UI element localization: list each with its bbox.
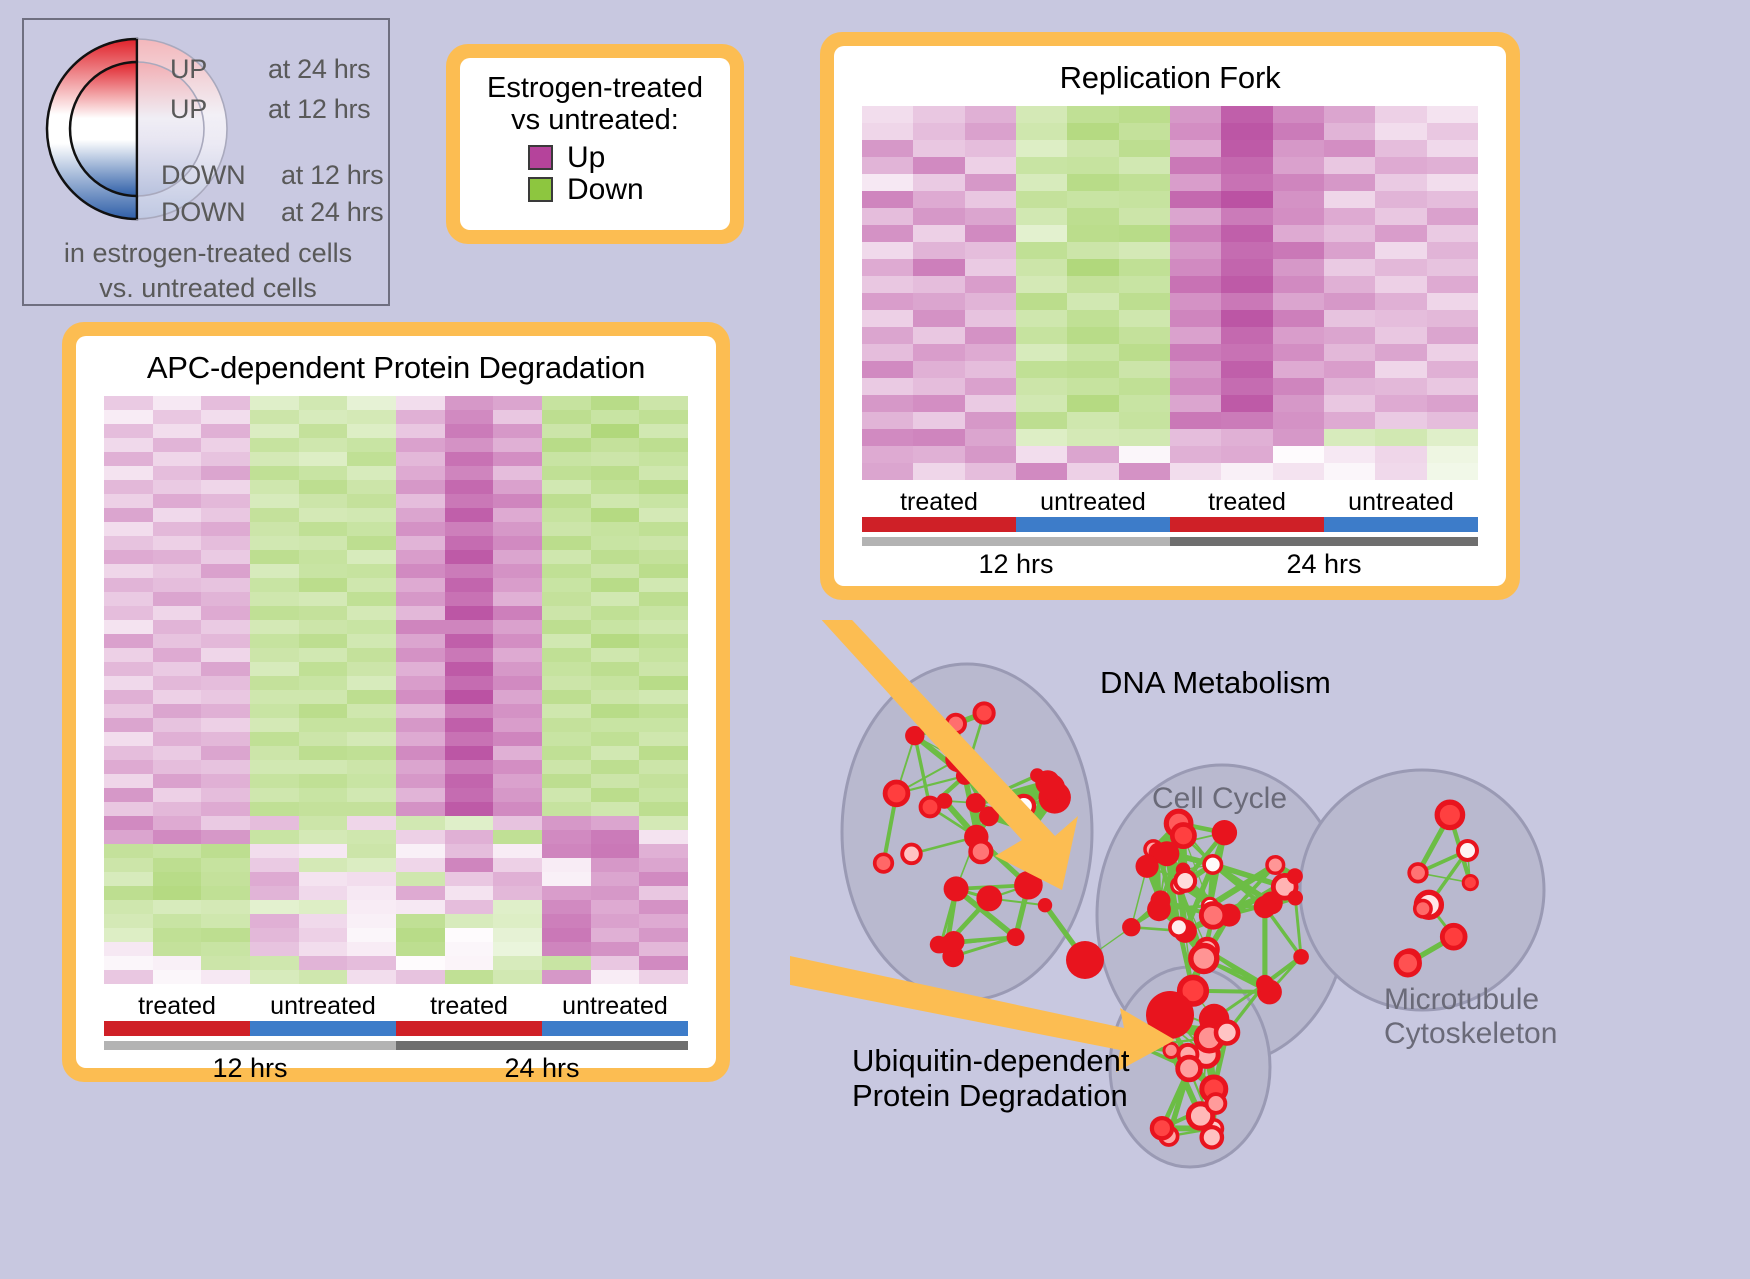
network-node bbox=[1147, 897, 1171, 921]
heatmap-cell bbox=[445, 732, 494, 746]
heatmap-cell bbox=[639, 578, 688, 592]
heatmap-cell bbox=[639, 872, 688, 886]
heatmap-cell bbox=[250, 746, 299, 760]
heatmap-cell bbox=[445, 466, 494, 480]
heatmap-cell bbox=[104, 830, 153, 844]
heatmap-cell bbox=[201, 564, 250, 578]
heatmap-cell bbox=[1067, 310, 1118, 327]
network-node bbox=[1256, 975, 1274, 993]
network-node bbox=[1458, 841, 1477, 860]
heatmap-cell bbox=[1324, 344, 1375, 361]
heatmap-cell bbox=[396, 844, 445, 858]
heatmap-cell bbox=[445, 606, 494, 620]
heatmap-cell bbox=[1273, 463, 1324, 480]
heatmap-cell bbox=[250, 606, 299, 620]
heatmap-cell bbox=[1273, 378, 1324, 395]
heatmap-cell bbox=[542, 508, 591, 522]
heatmap-cell bbox=[1427, 157, 1478, 174]
heatmap-cell bbox=[1170, 157, 1221, 174]
heatmap-cell bbox=[1324, 463, 1375, 480]
heatmap-cell bbox=[1273, 344, 1324, 361]
network-node bbox=[1178, 1057, 1201, 1080]
cluster-label-cell-cycle: Cell Cycle bbox=[1152, 782, 1287, 816]
heatmap-cell bbox=[396, 816, 445, 830]
heatmap-cell bbox=[862, 429, 913, 446]
network-node bbox=[1415, 901, 1431, 917]
heatmap-cell bbox=[104, 900, 153, 914]
heatmap-cell bbox=[104, 494, 153, 508]
heatmap-cell bbox=[639, 788, 688, 802]
down-swatch-icon bbox=[528, 177, 553, 202]
heatmap-cell bbox=[1427, 463, 1478, 480]
heatmap-cell bbox=[104, 634, 153, 648]
heatmap-cell bbox=[153, 522, 202, 536]
heatmap-cell bbox=[299, 648, 348, 662]
heatmap-cell bbox=[591, 928, 640, 942]
heatmap-cell bbox=[862, 259, 913, 276]
heatmap-cell bbox=[299, 844, 348, 858]
heatmap-cell bbox=[445, 956, 494, 970]
heatmap-cell bbox=[1221, 463, 1272, 480]
heatmap-cell bbox=[396, 424, 445, 438]
heatmap-cell bbox=[250, 900, 299, 914]
heatmap-cell bbox=[1324, 361, 1375, 378]
heatmap-cell bbox=[104, 466, 153, 480]
apc-degradation-heatmap bbox=[104, 396, 688, 984]
heatmap-cell bbox=[1119, 446, 1170, 463]
heatmap-cell bbox=[1119, 344, 1170, 361]
heatmap-cell bbox=[1119, 140, 1170, 157]
network-node bbox=[1207, 1094, 1226, 1113]
heatmap-cell bbox=[250, 634, 299, 648]
heatmap-cell bbox=[1273, 225, 1324, 242]
heatmap-cell bbox=[591, 802, 640, 816]
heatmap-cell bbox=[250, 396, 299, 410]
heatmap-cell bbox=[1067, 140, 1118, 157]
key-row-up: Up bbox=[528, 143, 720, 173]
heatmap-cell bbox=[396, 592, 445, 606]
heatmap-cell bbox=[591, 410, 640, 424]
heatmap-cell bbox=[299, 438, 348, 452]
heatmap-cell bbox=[299, 956, 348, 970]
heatmap-cell bbox=[913, 140, 964, 157]
heatmap-cell bbox=[542, 718, 591, 732]
heatmap-cell bbox=[493, 606, 542, 620]
heatmap-cell bbox=[347, 424, 396, 438]
heatmap-cell bbox=[250, 970, 299, 984]
heatmap-cell bbox=[396, 564, 445, 578]
heatmap-cell bbox=[1375, 344, 1426, 361]
heatmap-cell bbox=[396, 480, 445, 494]
heatmap-cell bbox=[1221, 191, 1272, 208]
heatmap-cell bbox=[1119, 174, 1170, 191]
heatmap-cell bbox=[445, 522, 494, 536]
heatmap-cell bbox=[1170, 412, 1221, 429]
heatmap-cell bbox=[201, 704, 250, 718]
condition-label: untreated bbox=[1324, 488, 1478, 517]
heatmap-cell bbox=[347, 970, 396, 984]
network-node bbox=[1039, 774, 1065, 800]
heatmap-cell bbox=[965, 225, 1016, 242]
heatmap-cell bbox=[250, 536, 299, 550]
network-node bbox=[1038, 898, 1052, 912]
heatmap-cell bbox=[299, 928, 348, 942]
heatmap-cell bbox=[1016, 378, 1067, 395]
heatmap-cell bbox=[639, 662, 688, 676]
heatmap-cell bbox=[445, 592, 494, 606]
heatmap-cell bbox=[913, 310, 964, 327]
heatmap-cell bbox=[542, 494, 591, 508]
heatmap-cell bbox=[542, 522, 591, 536]
heatmap-cell bbox=[153, 396, 202, 410]
heatmap-cell bbox=[965, 361, 1016, 378]
heatmap-cell bbox=[1375, 293, 1426, 310]
heatmap-cell bbox=[153, 788, 202, 802]
heatmap-cell bbox=[1273, 429, 1324, 446]
heatmap-cell bbox=[104, 606, 153, 620]
heatmap-cell bbox=[913, 327, 964, 344]
heatmap-cell bbox=[1375, 174, 1426, 191]
heatmap-cell bbox=[299, 522, 348, 536]
heatmap-cell bbox=[153, 816, 202, 830]
heatmap-cell bbox=[965, 463, 1016, 480]
heatmap-cell bbox=[1067, 463, 1118, 480]
condition-label: treated bbox=[104, 992, 250, 1021]
heatmap-cell bbox=[347, 634, 396, 648]
heatmap-cell bbox=[591, 900, 640, 914]
heatmap-cell bbox=[396, 928, 445, 942]
heatmap-cell bbox=[542, 536, 591, 550]
key-title-line2: vs untreated: bbox=[470, 104, 720, 136]
network-node bbox=[1267, 857, 1284, 874]
heatmap-cell bbox=[1221, 242, 1272, 259]
heatmap-cell bbox=[250, 830, 299, 844]
heatmap-cell bbox=[201, 620, 250, 634]
heatmap-cell bbox=[591, 536, 640, 550]
heatmap-cell bbox=[862, 123, 913, 140]
heatmap-cell bbox=[153, 676, 202, 690]
heatmap-cell bbox=[104, 662, 153, 676]
heatmap-cell bbox=[1016, 395, 1067, 412]
heatmap-cell bbox=[1221, 225, 1272, 242]
heatmap-cell bbox=[862, 293, 913, 310]
heatmap-cell bbox=[1067, 157, 1118, 174]
heatmap-cell bbox=[639, 844, 688, 858]
heatmap-cell bbox=[1170, 242, 1221, 259]
heatmap-cell bbox=[347, 872, 396, 886]
heatmap-cell bbox=[250, 410, 299, 424]
heatmap-cell bbox=[1067, 378, 1118, 395]
heatmap-cell bbox=[1067, 429, 1118, 446]
key-label-down: Down bbox=[567, 175, 644, 205]
heatmap-cell bbox=[639, 676, 688, 690]
heatmap-cell bbox=[1375, 429, 1426, 446]
condition-label: untreated bbox=[542, 992, 688, 1021]
heatmap-cell bbox=[542, 578, 591, 592]
heatmap-cell bbox=[1170, 191, 1221, 208]
heatmap-cell bbox=[965, 208, 1016, 225]
heatmap-cell bbox=[1324, 446, 1375, 463]
heatmap-cell bbox=[299, 676, 348, 690]
heatmap-cell bbox=[542, 970, 591, 984]
heatmap-cell bbox=[347, 816, 396, 830]
heatmap-cell bbox=[1119, 378, 1170, 395]
heatmap-cell bbox=[913, 378, 964, 395]
heatmap-cell bbox=[299, 396, 348, 410]
heatmap-cell bbox=[201, 732, 250, 746]
heatmap-cell bbox=[862, 446, 913, 463]
heatmap-cell bbox=[862, 463, 913, 480]
heatmap-cell bbox=[542, 480, 591, 494]
heatmap-cell bbox=[445, 494, 494, 508]
heatmap-cell bbox=[153, 620, 202, 634]
heatmap-cell bbox=[1427, 123, 1478, 140]
heatmap-cell bbox=[1067, 208, 1118, 225]
heatmap-cell bbox=[1016, 412, 1067, 429]
heatmap-cell bbox=[1221, 344, 1272, 361]
wheel-time-3: at 24 hrs bbox=[281, 197, 383, 228]
heatmap-cell bbox=[347, 536, 396, 550]
heatmap-cell bbox=[1324, 429, 1375, 446]
heatmap-cell bbox=[1221, 157, 1272, 174]
heatmap-cell bbox=[639, 438, 688, 452]
heatmap-cell bbox=[493, 956, 542, 970]
heatmap-cell bbox=[445, 578, 494, 592]
heatmap-cell bbox=[1273, 191, 1324, 208]
key-title-line1: Estrogen-treated bbox=[470, 72, 720, 104]
heatmap-cell bbox=[591, 788, 640, 802]
heatmap-cell bbox=[445, 704, 494, 718]
key-row-down: Down bbox=[528, 175, 720, 205]
heatmap-cell bbox=[639, 858, 688, 872]
heatmap-cell bbox=[396, 956, 445, 970]
heatmap-cell bbox=[396, 662, 445, 676]
time-segment bbox=[1170, 537, 1478, 546]
heatmap-cell bbox=[862, 106, 913, 123]
heatmap-cell bbox=[104, 816, 153, 830]
heatmap-cell bbox=[1170, 174, 1221, 191]
heatmap-cell bbox=[445, 648, 494, 662]
condition-segment bbox=[542, 1021, 688, 1036]
heatmap-cell bbox=[201, 480, 250, 494]
heatmap-cell bbox=[445, 536, 494, 550]
heatmap-cell bbox=[347, 410, 396, 424]
heatmap-cell bbox=[1324, 174, 1375, 191]
heatmap-cell bbox=[493, 970, 542, 984]
condition-segment bbox=[396, 1021, 542, 1036]
heatmap-cell bbox=[104, 592, 153, 606]
heatmap-cell bbox=[201, 536, 250, 550]
heatmap-cell bbox=[104, 578, 153, 592]
heatmap-cell bbox=[913, 429, 964, 446]
heatmap-cell bbox=[639, 452, 688, 466]
heatmap-cell bbox=[1119, 429, 1170, 446]
heatmap-cell bbox=[1170, 429, 1221, 446]
heatmap-cell bbox=[591, 718, 640, 732]
heatmap-cell bbox=[493, 620, 542, 634]
network-node bbox=[1463, 876, 1477, 890]
network-node bbox=[1216, 1022, 1238, 1044]
heatmap-cell bbox=[299, 662, 348, 676]
heatmap-cell bbox=[250, 620, 299, 634]
network-node bbox=[1293, 949, 1309, 965]
cluster-label-microtubule: Microtubule Cytoskeleton bbox=[1384, 983, 1557, 1050]
heatmap-cell bbox=[493, 536, 542, 550]
heatmap-cell bbox=[1067, 412, 1118, 429]
heatmap-cell bbox=[913, 106, 964, 123]
heatmap-cell bbox=[104, 858, 153, 872]
heatmap-cell bbox=[913, 208, 964, 225]
heatmap-cell bbox=[493, 648, 542, 662]
heatmap-cell bbox=[347, 928, 396, 942]
heatmap-cell bbox=[493, 760, 542, 774]
heatmap-cell bbox=[1427, 446, 1478, 463]
heatmap-cell bbox=[542, 928, 591, 942]
cluster-label-ubiquitin: Ubiquitin-dependent Protein Degradation bbox=[852, 1044, 1130, 1113]
heatmap-cell bbox=[493, 732, 542, 746]
heatmap-cell bbox=[201, 900, 250, 914]
heatmap-cell bbox=[591, 438, 640, 452]
heatmap-cell bbox=[913, 361, 964, 378]
heatmap-cell bbox=[965, 106, 1016, 123]
heatmap-cell bbox=[493, 592, 542, 606]
heatmap-cell bbox=[542, 732, 591, 746]
network-node bbox=[1007, 928, 1025, 946]
heatmap-cell bbox=[396, 536, 445, 550]
heatmap-cell bbox=[250, 942, 299, 956]
network-node bbox=[1164, 1043, 1178, 1057]
heatmap-cell bbox=[201, 928, 250, 942]
heatmap-cell bbox=[493, 774, 542, 788]
heatmap-cell bbox=[1119, 123, 1170, 140]
heatmap-cell bbox=[1273, 293, 1324, 310]
heatmap-cell bbox=[104, 550, 153, 564]
heatmap-cell bbox=[591, 914, 640, 928]
heatmap-cell bbox=[591, 550, 640, 564]
heatmap-cell bbox=[1427, 174, 1478, 191]
heatmap-cell bbox=[104, 956, 153, 970]
wheel-time-1: at 12 hrs bbox=[268, 94, 370, 125]
heatmap-cell bbox=[1221, 446, 1272, 463]
heatmap-cell bbox=[153, 438, 202, 452]
heatmap-cell bbox=[396, 410, 445, 424]
heatmap-cell bbox=[639, 732, 688, 746]
heatmap-cell bbox=[913, 174, 964, 191]
heatmap-cell bbox=[965, 293, 1016, 310]
heatmap-cell bbox=[299, 774, 348, 788]
heatmap-cell bbox=[153, 774, 202, 788]
heatmap-cell bbox=[1221, 293, 1272, 310]
heatmap-cell bbox=[542, 466, 591, 480]
heatmap-cell bbox=[299, 704, 348, 718]
heatmap-cell bbox=[913, 225, 964, 242]
heatmap-cell bbox=[639, 816, 688, 830]
heatmap-cell bbox=[542, 620, 591, 634]
heatmap-cell bbox=[396, 970, 445, 984]
heatmap-cell bbox=[639, 802, 688, 816]
heatmap-cell bbox=[913, 259, 964, 276]
heatmap-cell bbox=[1324, 106, 1375, 123]
heatmap-cell bbox=[862, 412, 913, 429]
heatmap-cell bbox=[250, 956, 299, 970]
heatmap-cell bbox=[862, 208, 913, 225]
heatmap-cell bbox=[1273, 140, 1324, 157]
heatmap-cell bbox=[1170, 293, 1221, 310]
heatmap-cell bbox=[591, 634, 640, 648]
heatmap-cell bbox=[396, 788, 445, 802]
heatmap-cell bbox=[1170, 123, 1221, 140]
network-node bbox=[1288, 890, 1303, 905]
heatmap-cell bbox=[1170, 259, 1221, 276]
heatmap-cell bbox=[1273, 412, 1324, 429]
heatmap-cell bbox=[542, 662, 591, 676]
heatmap-cell bbox=[250, 788, 299, 802]
network-node bbox=[1409, 864, 1427, 882]
heatmap-cell bbox=[591, 452, 640, 466]
heatmap-cell bbox=[1375, 395, 1426, 412]
heatmap-cell bbox=[1170, 327, 1221, 344]
wheel-time-2: at 12 hrs bbox=[281, 160, 383, 191]
heatmap-cell bbox=[396, 606, 445, 620]
heatmap-cell bbox=[1375, 242, 1426, 259]
heatmap-cell bbox=[1170, 395, 1221, 412]
heatmap-cell bbox=[1375, 276, 1426, 293]
heatmap-cell bbox=[1119, 276, 1170, 293]
heatmap-cell bbox=[299, 564, 348, 578]
heatmap-cell bbox=[347, 550, 396, 564]
heatmap-cell bbox=[104, 914, 153, 928]
pathway-network-graph bbox=[790, 620, 1750, 1279]
heatmap-cell bbox=[1067, 327, 1118, 344]
network-node bbox=[971, 841, 992, 862]
heatmap-cell bbox=[445, 410, 494, 424]
heatmap-cell bbox=[639, 942, 688, 956]
heatmap-cell bbox=[493, 928, 542, 942]
heatmap-cell bbox=[591, 704, 640, 718]
heatmap-cell bbox=[201, 844, 250, 858]
heatmap-cell bbox=[445, 858, 494, 872]
heatmap-cell bbox=[201, 522, 250, 536]
heatmap-cell bbox=[591, 774, 640, 788]
heatmap-cell bbox=[1016, 276, 1067, 293]
heatmap-cell bbox=[299, 788, 348, 802]
heatmap-cell bbox=[153, 452, 202, 466]
heatmap-cell bbox=[493, 480, 542, 494]
heatmap-cell bbox=[639, 648, 688, 662]
heatmap-cell bbox=[591, 480, 640, 494]
apc-condition-labels: treateduntreatedtreateduntreated bbox=[104, 992, 688, 1021]
heatmap-cell bbox=[965, 276, 1016, 293]
heatmap-cell bbox=[347, 746, 396, 760]
heatmap-cell bbox=[1221, 395, 1272, 412]
heatmap-cell bbox=[445, 564, 494, 578]
heatmap-cell bbox=[639, 970, 688, 984]
heatmap-cell bbox=[250, 508, 299, 522]
heatmap-cell bbox=[347, 676, 396, 690]
heatmap-cell bbox=[396, 578, 445, 592]
heatmap-cell bbox=[493, 788, 542, 802]
heatmap-cell bbox=[639, 886, 688, 900]
heatmap-cell bbox=[347, 858, 396, 872]
condition-segment bbox=[862, 517, 1016, 532]
heatmap-cell bbox=[1016, 106, 1067, 123]
heatmap-cell bbox=[862, 378, 913, 395]
wheel-footer-line2: vs. untreated cells bbox=[24, 273, 392, 304]
heatmap-cell bbox=[493, 508, 542, 522]
heatmap-cell bbox=[1273, 242, 1324, 259]
network-node bbox=[1254, 896, 1276, 918]
heatmap-cell bbox=[1221, 174, 1272, 191]
